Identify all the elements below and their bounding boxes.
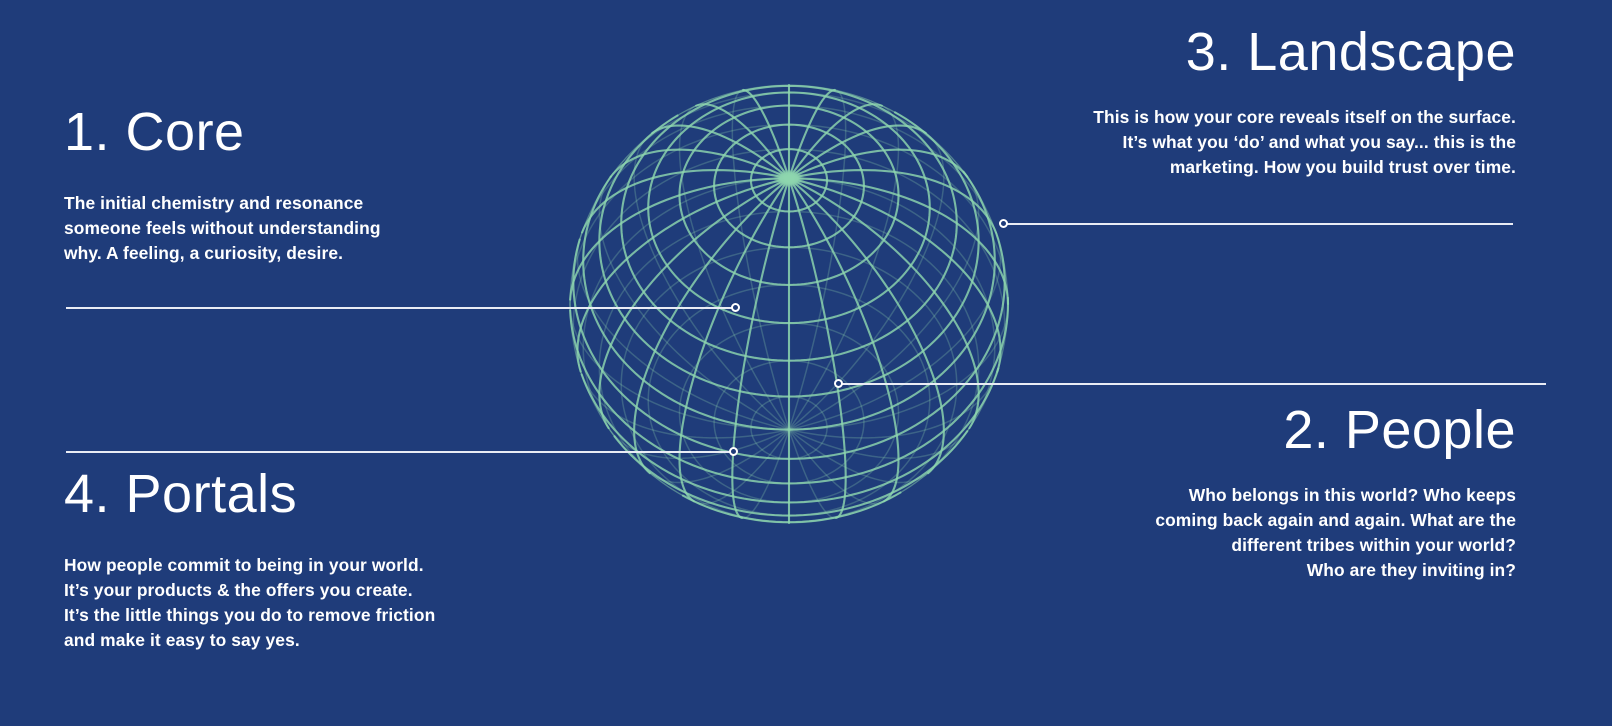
- globe-svg: [568, 78, 1010, 530]
- portals-body-line: How people commit to being in your world…: [64, 553, 584, 578]
- people-body-line: different tribes within your world?: [956, 533, 1516, 558]
- landscape-body: This is how your core reveals itself on …: [956, 105, 1516, 181]
- infographic-canvas: 1. Core The initial chemistry and resona…: [0, 0, 1612, 726]
- portals-body-line: and make it easy to say yes.: [64, 628, 584, 653]
- people-body-line: coming back again and again. What are th…: [956, 508, 1516, 533]
- portals-leader-dot: [729, 447, 738, 456]
- landscape-body-line: marketing. How you build trust over time…: [956, 155, 1516, 180]
- portals-title: 4. Portals: [64, 466, 584, 523]
- core-body-line: why. A feeling, a curiosity, desire.: [64, 241, 534, 266]
- people-leader-dot: [834, 379, 843, 388]
- portals-body: How people commit to being in your world…: [64, 553, 584, 654]
- core-leader-line: [66, 307, 736, 309]
- people-leader-line: [840, 383, 1546, 385]
- wireframe-globe: [568, 78, 1010, 530]
- people-title: 2. People: [956, 402, 1516, 459]
- core-body: The initial chemistry and resonance some…: [64, 191, 534, 267]
- portals-leader-line: [66, 451, 736, 453]
- landscape-leader-line: [1003, 223, 1513, 225]
- landscape-body-line: This is how your core reveals itself on …: [956, 105, 1516, 130]
- core-body-line: someone feels without understanding: [64, 216, 534, 241]
- landscape-title: 3. Landscape: [956, 24, 1516, 81]
- quadrant-portals: 4. Portals How people commit to being in…: [64, 466, 584, 654]
- people-body-line: Who are they inviting in?: [956, 558, 1516, 583]
- core-body-line: The initial chemistry and resonance: [64, 191, 534, 216]
- landscape-body-line: It’s what you ‘do’ and what you say... t…: [956, 130, 1516, 155]
- people-body: Who belongs in this world? Who keeps com…: [956, 483, 1516, 584]
- portals-body-line: It’s the little things you do to remove …: [64, 603, 584, 628]
- core-title: 1. Core: [64, 104, 534, 161]
- quadrant-landscape: 3. Landscape This is how your core revea…: [956, 24, 1516, 180]
- quadrant-core: 1. Core The initial chemistry and resona…: [64, 104, 534, 266]
- portals-body-line: It’s your products & the offers you crea…: [64, 578, 584, 603]
- quadrant-people: 2. People Who belongs in this world? Who…: [956, 402, 1516, 584]
- people-body-line: Who belongs in this world? Who keeps: [956, 483, 1516, 508]
- core-leader-dot: [731, 303, 740, 312]
- landscape-leader-dot: [999, 219, 1008, 228]
